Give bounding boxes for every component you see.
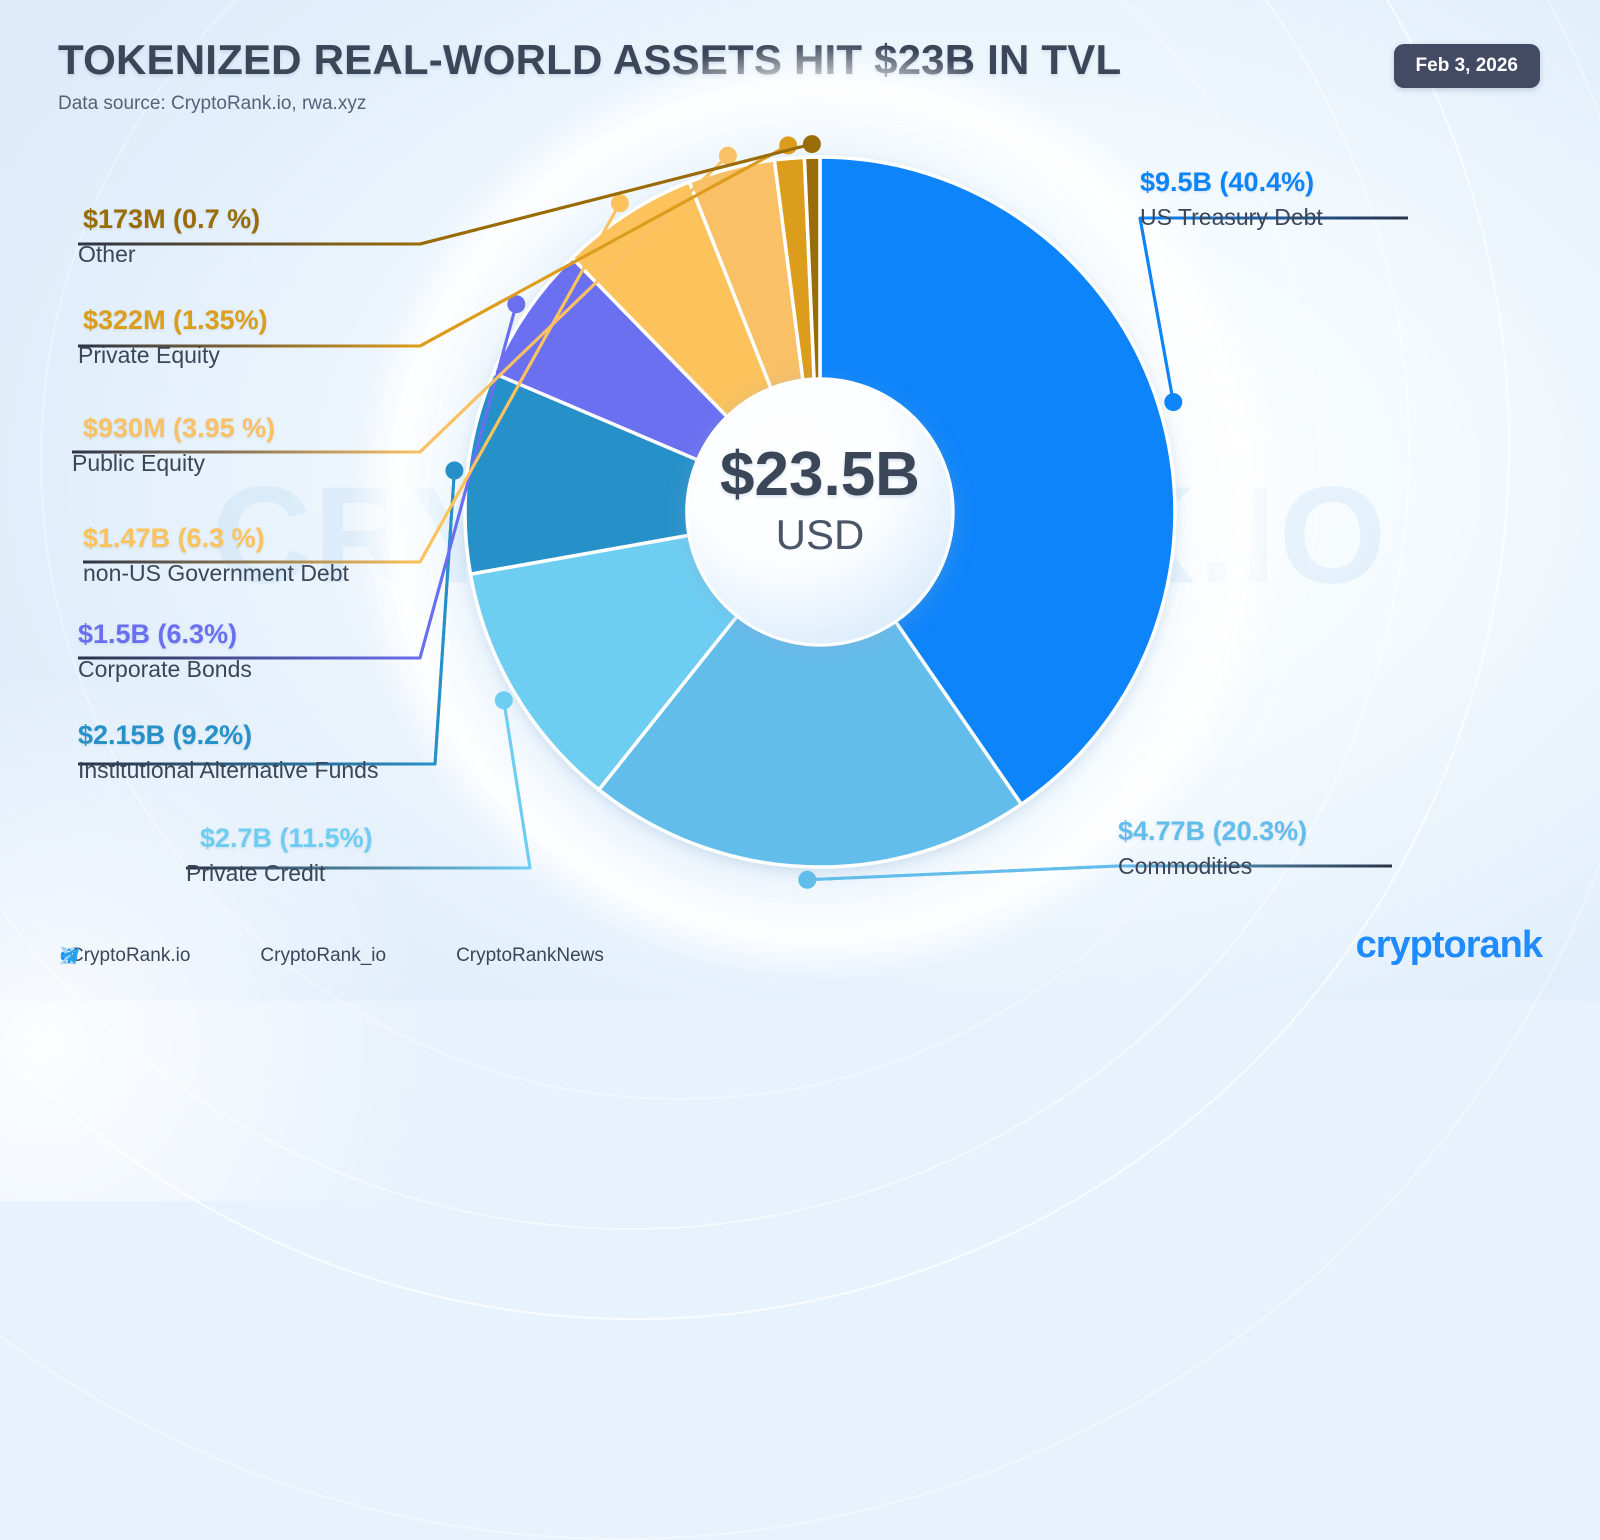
callout-value: $9.5B (40.4%)	[1140, 168, 1323, 196]
callout: $2.15B (9.2%)Institutional Alternative F…	[78, 721, 378, 785]
callout-value: $1.47B (6.3 %)	[83, 524, 349, 552]
social-label: CryptoRankNews	[456, 945, 604, 967]
callout-value: $2.7B (11.5%)	[200, 824, 373, 852]
callout-value: $930M (3.95 %)	[83, 414, 275, 442]
callout: $930M (3.95 %)Public Equity	[83, 414, 275, 478]
callout-label: Commodities	[1118, 852, 1307, 881]
footer: CryptoRank.ioCryptoRank_ioCryptoRankNews	[58, 945, 604, 967]
leader-dot	[719, 147, 737, 165]
callout-label: Corporate Bonds	[78, 655, 252, 684]
callout-label: Private Credit	[186, 859, 373, 888]
leader-dot	[798, 871, 816, 889]
leader-dot	[1164, 393, 1182, 411]
center-currency: USD	[720, 514, 920, 556]
callout-value: $1.5B (6.3%)	[78, 620, 252, 648]
callout-label: Institutional Alternative Funds	[78, 756, 378, 785]
callout: $9.5B (40.4%)US Treasury Debt	[1140, 168, 1323, 232]
callout-label: non-US Government Debt	[83, 559, 349, 588]
center-total: $23.5B USD	[720, 444, 920, 556]
callout-label: Public Equity	[72, 449, 275, 478]
callout: $1.47B (6.3 %)non-US Government Debt	[83, 524, 349, 588]
callout-value: $4.77B (20.3%)	[1118, 817, 1307, 845]
callout-label: US Treasury Debt	[1140, 203, 1323, 232]
callout: $173M (0.7 %)Other	[83, 205, 260, 269]
leader-dot	[495, 691, 513, 709]
brand-logo: cryptorank	[1356, 924, 1542, 967]
social-label: CryptoRank_io	[260, 945, 386, 967]
callout: $1.5B (6.3%)Corporate Bonds	[78, 620, 252, 684]
callout: $322M (1.35%)Private Equity	[83, 306, 268, 370]
callout-value: $2.15B (9.2%)	[78, 721, 378, 749]
donut-chart: $23.5B USD $9.5B (40.4%)US Treasury Debt…	[0, 0, 1600, 1001]
brand-wordmark: cryptorank	[1356, 924, 1542, 967]
callout-value: $322M (1.35%)	[83, 306, 268, 334]
center-total-value: $23.5B	[720, 444, 920, 506]
callout: $2.7B (11.5%)Private Credit	[200, 824, 373, 888]
leader-dot	[445, 462, 463, 480]
leader-dot	[803, 135, 821, 153]
callout-label: Other	[78, 240, 260, 269]
leader-dot	[611, 194, 629, 212]
social-label: CryptoRank.io	[70, 945, 190, 967]
social-link-cryptoranknews[interactable]: CryptoRankNews	[444, 945, 604, 967]
callout-label: Private Equity	[78, 341, 268, 370]
social-link-cryptorank-io[interactable]: CryptoRank_io	[248, 945, 386, 967]
callout-value: $173M (0.7 %)	[83, 205, 260, 233]
callout: $4.77B (20.3%)Commodities	[1118, 817, 1307, 881]
